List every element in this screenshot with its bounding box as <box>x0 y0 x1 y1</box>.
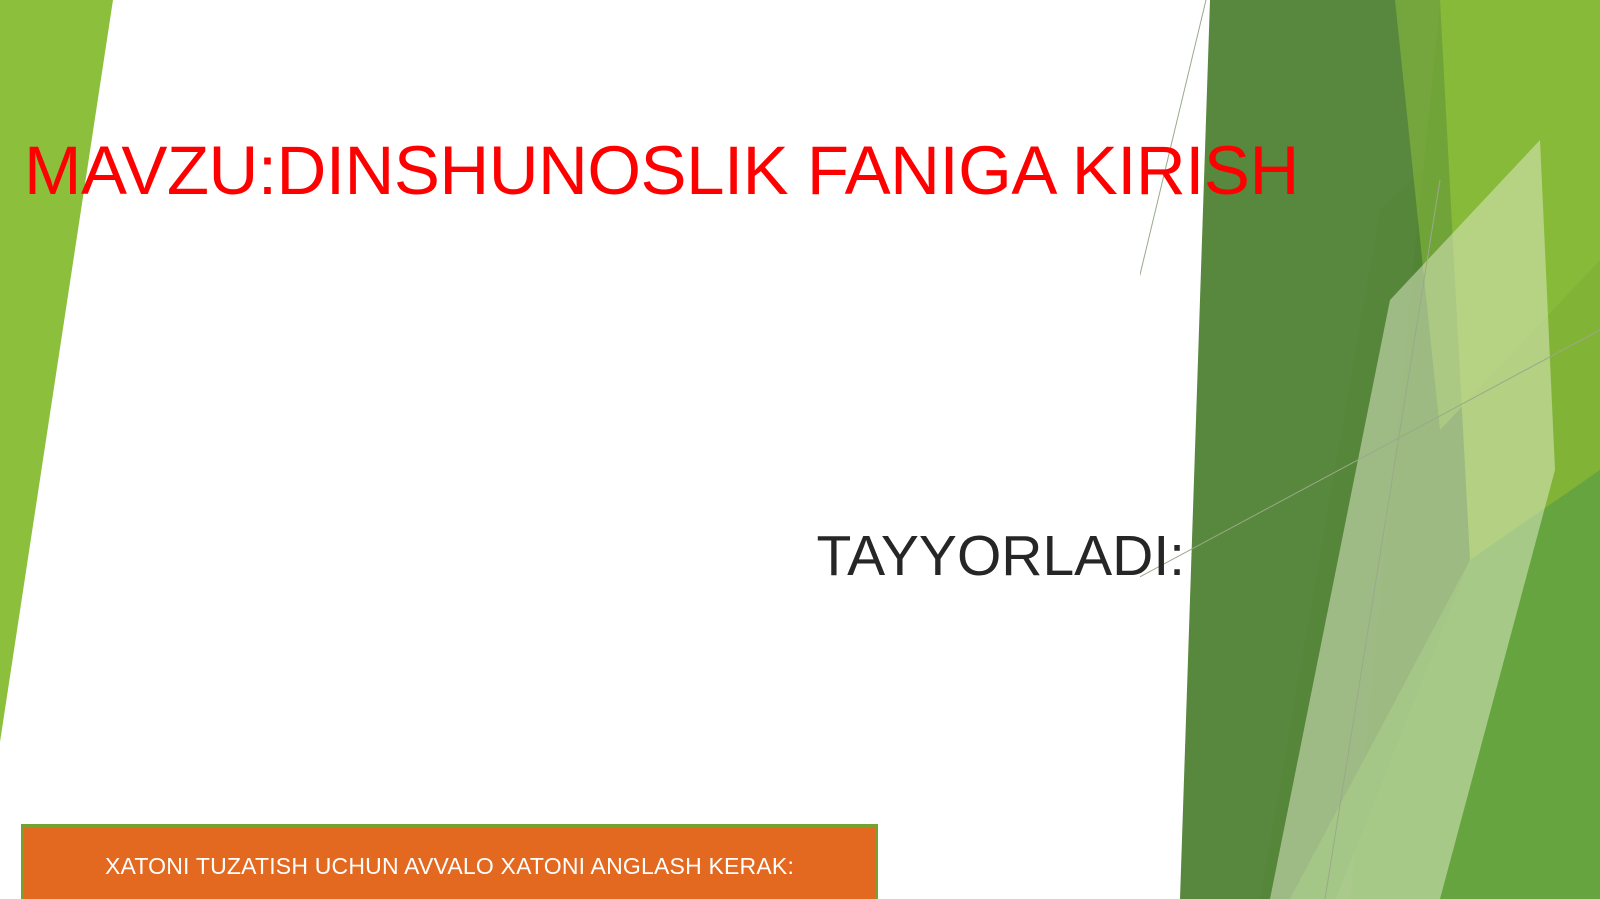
page-title: MAVZU:DINSHUNOSLIK FANIGA KIRISH <box>24 135 1234 207</box>
facet-mid-lower <box>1290 470 1600 899</box>
footer-banner-text: XATONI TUZATISH UCHUN AVVALO XATONI ANGL… <box>105 850 794 883</box>
title-block: MAVZU:DINSHUNOSLIK FANIGA KIRISH <box>24 135 1234 207</box>
footer-banner: XATONI TUZATISH UCHUN AVVALO XATONI ANGL… <box>21 824 878 899</box>
facet-bright-right <box>1350 0 1600 899</box>
slide-subtitle: TAYYORLADI: <box>560 525 1185 588</box>
hairline-diagonal-cross <box>1140 330 1600 660</box>
facet-light-strip <box>1395 0 1600 430</box>
subtitle-block: TAYYORLADI: <box>560 525 1185 588</box>
left-wedge-shape <box>0 0 113 742</box>
facet-pale-overlay <box>1270 140 1555 899</box>
hairline-diagonal-lower <box>1325 180 1440 899</box>
facet-pale-left <box>1260 0 1600 899</box>
presentation-slide: MAVZU:DINSHUNOSLIK FANIGA KIRISH TAYYORL… <box>0 0 1600 899</box>
